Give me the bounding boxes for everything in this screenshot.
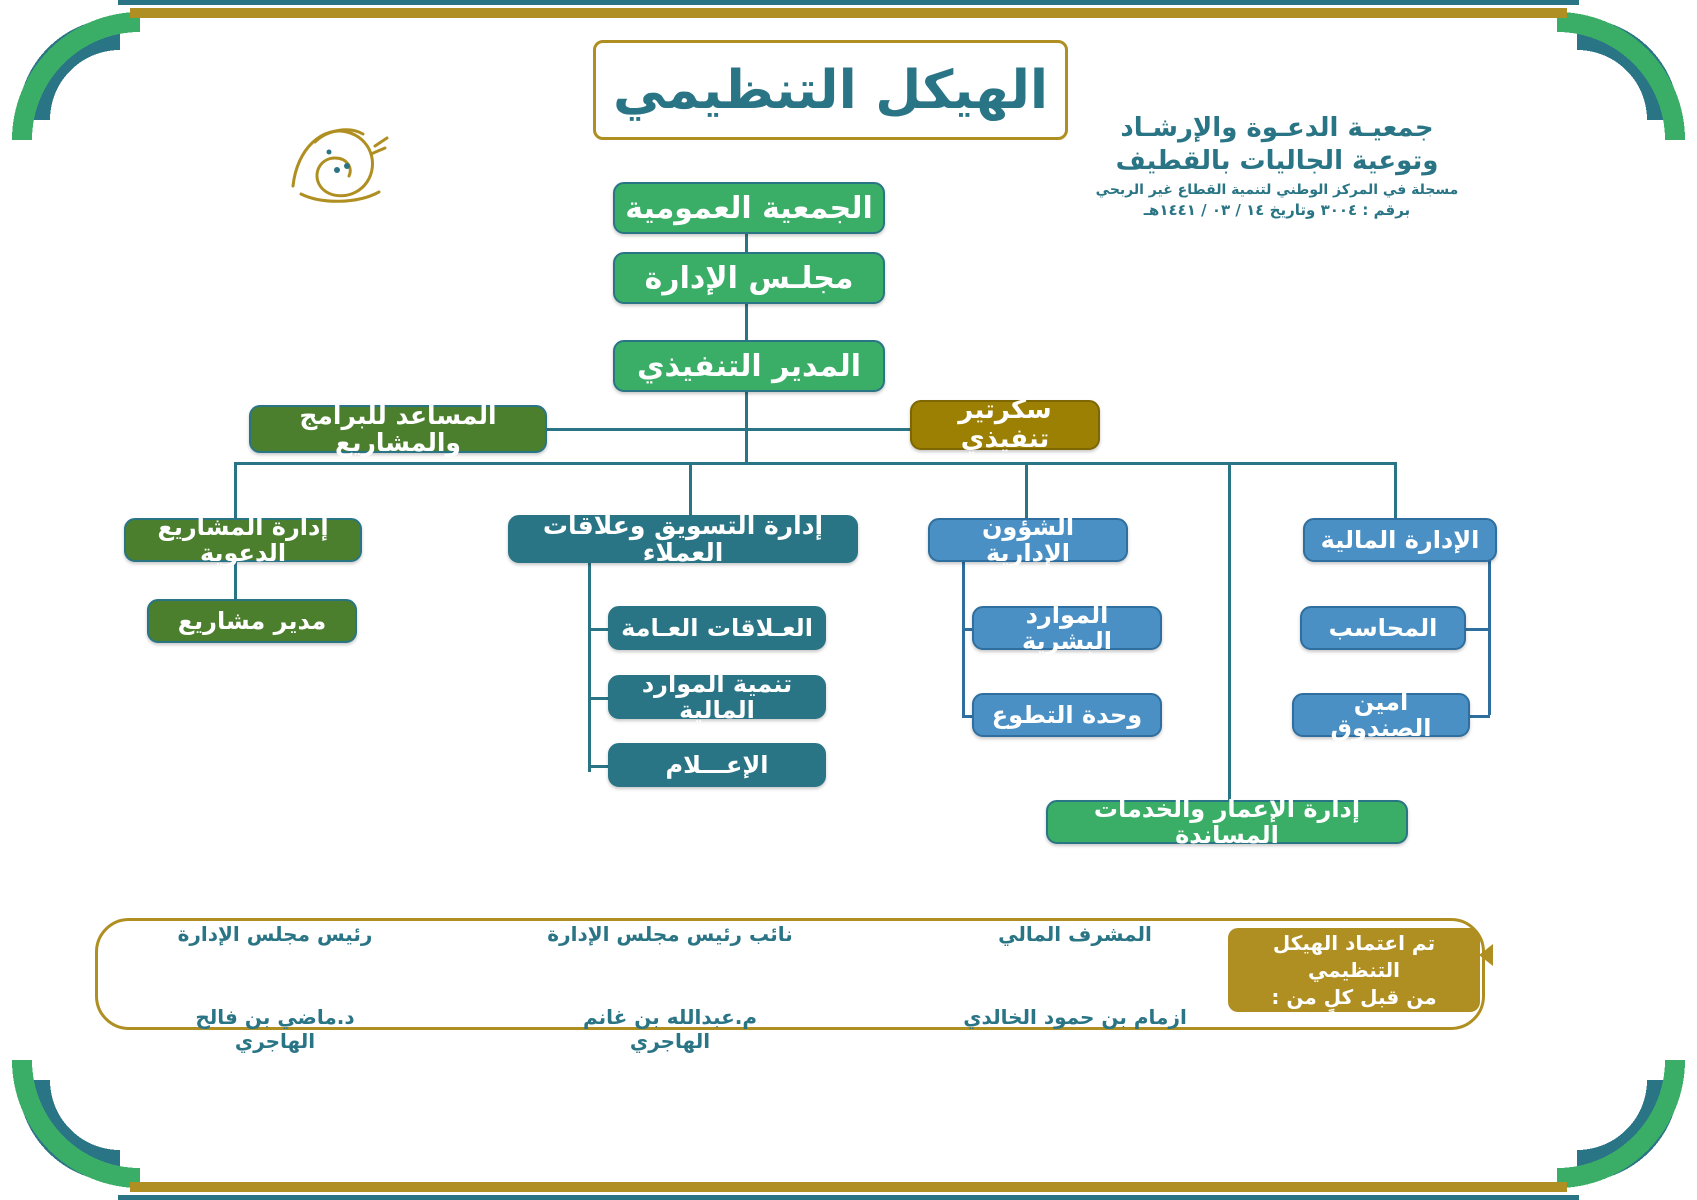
connector-director-to-assistant: [547, 428, 747, 431]
registration-line1: مسجلة في المركز الوطني لتنمية القطاع غير…: [1067, 182, 1487, 198]
organization-name-line1: جمعيـة الدعـوة والإرشـاد: [1067, 112, 1487, 145]
node-department-dawa-projects[interactable]: إدارة المشاريع الدعوية: [124, 518, 362, 562]
organization-name-line2: وتوعية الجاليات بالقطيف: [1067, 145, 1487, 178]
signatory-role-financial-supervisor: المشرف المالي: [955, 922, 1195, 946]
page-title-box: الهيكل التنظيمي: [593, 40, 1068, 140]
node-general-assembly[interactable]: الجمعية العمومية: [613, 182, 885, 234]
connector-director-spine: [745, 390, 748, 464]
organization-identity: جمعيـة الدعـوة والإرشـاد وتوعية الجاليات…: [1067, 112, 1487, 219]
corner-decoration-bottom-left-outer: [0, 1060, 140, 1200]
connector-drop-admin: [1025, 462, 1028, 518]
node-volunteering-unit-label: وحدة التطوع: [992, 702, 1142, 728]
association-logo-icon: [275, 108, 405, 218]
node-department-dawa-projects-label: إدارة المشاريع الدعوية: [134, 514, 352, 567]
node-assistant-programs-projects[interactable]: المساعد للبرامج والمشاريع: [249, 405, 547, 453]
top-gold-bar: [130, 8, 1567, 18]
corner-decoration-top-right-outer: [1557, 0, 1697, 140]
bottom-gold-bar: [130, 1182, 1567, 1192]
corner-decoration-bottom-right-outer: [1557, 1060, 1697, 1200]
node-accountant-label: المحاسب: [1329, 615, 1438, 641]
top-teal-bar: [118, 0, 1579, 5]
connector-director-to-secretary: [745, 428, 915, 431]
connector-drop-reconstruction: [1228, 462, 1231, 800]
signatory-role-chairman: رئيس مجلس الإدارة: [155, 922, 395, 946]
signatory-name-financial-supervisor: ازمام بن حمود الخالدي: [955, 1005, 1195, 1029]
node-executive-secretary-label: سكرتير تنفيذي: [920, 396, 1090, 453]
connector-marketing-children-spine: [588, 560, 591, 772]
node-projects-manager-label: مدير مشاريع: [178, 608, 327, 634]
node-department-marketing-client-relations-label: إدارة التسويق وعلاقات العملاء: [518, 512, 848, 567]
node-department-reconstruction-support-services[interactable]: إدارة الإعمار والخدمات المساندة: [1046, 800, 1408, 844]
node-board-of-directors[interactable]: مجلـس الإدارة: [613, 252, 885, 304]
approval-callout: تم اعتماد الهيكل التنظيمي من قبل كلٍ من …: [1228, 928, 1480, 1012]
connector-admin-children-spine: [962, 560, 965, 715]
node-treasurer-label: أمين الصندوق: [1302, 689, 1460, 742]
node-board-of-directors-label: مجلـس الإدارة: [645, 262, 854, 295]
node-department-finance[interactable]: الإدارة المالية: [1303, 518, 1497, 562]
node-department-marketing-client-relations[interactable]: إدارة التسويق وعلاقات العملاء: [508, 515, 858, 563]
node-assistant-programs-projects-label: المساعد للبرامج والمشاريع: [259, 402, 537, 457]
node-human-resources[interactable]: الموارد البشرية: [972, 606, 1162, 650]
signatory-role-vice-chairman: نائب رئيس مجلس الإدارة: [545, 922, 795, 946]
connector-marketing-child2: [588, 697, 610, 700]
node-department-finance-label: الإدارة المالية: [1321, 527, 1480, 553]
node-department-administrative-affairs-label: الشؤون الإدارية: [938, 514, 1118, 567]
node-executive-director[interactable]: المدير التنفيذي: [613, 340, 885, 392]
approval-callout-line1: تم اعتماد الهيكل التنظيمي: [1228, 930, 1480, 984]
node-media-label: الإعـــلام: [666, 752, 769, 778]
node-projects-manager[interactable]: مدير مشاريع: [147, 599, 357, 643]
node-public-relations-label: العـلاقات العـامة: [621, 615, 813, 641]
node-financial-resources-development-label: تنمية الموارد المالية: [618, 671, 816, 724]
approval-callout-line2: من قبل كلٍ من :: [1271, 984, 1436, 1011]
node-financial-resources-development[interactable]: تنمية الموارد المالية: [608, 675, 826, 719]
organizational-chart-page: الهيكل التنظيمي جمعيـة الدعـوة والإرشـاد…: [0, 0, 1697, 1200]
node-human-resources-label: الموارد البشرية: [982, 602, 1152, 655]
connector-marketing-child3: [588, 765, 610, 768]
node-department-administrative-affairs[interactable]: الشؤون الإدارية: [928, 518, 1128, 562]
connector-finance-children-spine: [1488, 560, 1491, 715]
connector-drop-marketing: [689, 462, 692, 518]
connector-marketing-child1: [588, 628, 610, 631]
registration-line2: برقم : ٣٠٠٤ وتاريخ ١٤ / ٠٣ / ١٤٤١هـ: [1067, 201, 1487, 219]
signatory-name-chairman: د.ماضي بن فالح الهاجري: [155, 1005, 395, 1053]
connector-drop-dawa: [234, 462, 237, 518]
connector-board-to-director: [745, 302, 748, 342]
corner-decoration-top-left-outer: [0, 0, 140, 140]
node-executive-director-label: المدير التنفيذي: [637, 350, 861, 383]
node-media[interactable]: الإعـــلام: [608, 743, 826, 787]
node-accountant[interactable]: المحاسب: [1300, 606, 1466, 650]
bottom-teal-bar: [118, 1195, 1579, 1200]
connector-drop-finance: [1394, 462, 1397, 518]
node-treasurer[interactable]: أمين الصندوق: [1292, 693, 1470, 737]
page-title: الهيكل التنظيمي: [613, 60, 1048, 121]
signatory-name-vice-chairman: م.عبدالله بن غانم الهاجري: [545, 1005, 795, 1053]
connector-department-bus: [234, 462, 1394, 465]
node-executive-secretary[interactable]: سكرتير تنفيذي: [910, 400, 1100, 450]
node-general-assembly-label: الجمعية العمومية: [625, 192, 873, 225]
connector-finance-child1: [1466, 628, 1490, 631]
node-public-relations[interactable]: العـلاقات العـامة: [608, 606, 826, 650]
node-department-reconstruction-support-services-label: إدارة الإعمار والخدمات المساندة: [1056, 796, 1398, 849]
node-volunteering-unit[interactable]: وحدة التطوع: [972, 693, 1162, 737]
